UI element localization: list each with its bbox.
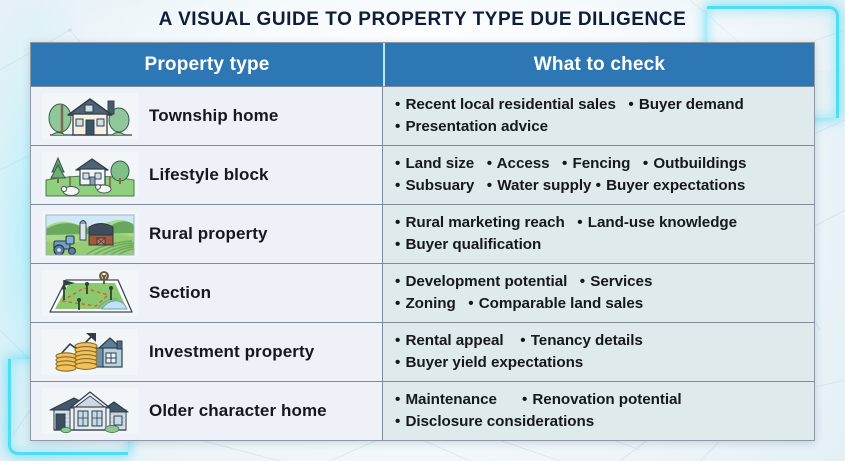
table-row: Township home • Recent local residential… [31, 86, 814, 145]
table-row: Investment property • Rental appeal • Te… [31, 322, 814, 381]
property-type-label: Investment property [143, 342, 314, 362]
property-due-diligence-table: Property type What to check [30, 42, 815, 441]
check-item: Buyer expectations [606, 177, 745, 194]
property-type-label: Lifestyle block [143, 165, 269, 185]
check-line: • Rental appeal • Tenancy details [395, 330, 804, 352]
check-item: Services [590, 273, 652, 290]
what-to-check-cell: • Rural marketing reach • Land-use knowl… [383, 205, 814, 263]
check-item: Comparable land sales [479, 295, 643, 312]
property-type-cell: Rural property [31, 205, 383, 263]
check-item: Buyer yield expectations [405, 354, 583, 371]
check-line: • Recent local residential sales • Buyer… [395, 94, 804, 116]
check-line: • Buyer yield expectations [395, 352, 804, 374]
investment-property-icon [37, 326, 143, 378]
property-type-cell: Section [31, 264, 383, 322]
property-type-label: Section [143, 283, 211, 303]
property-type-cell: Township home [31, 87, 383, 145]
property-type-label: Older character home [143, 401, 327, 421]
what-to-check-cell: • Rental appeal • Tenancy details • Buye… [383, 323, 814, 381]
table-row: Section • Development potential • Servic… [31, 263, 814, 322]
check-line: • Presentation advice [395, 116, 804, 138]
check-line: • Development potential • Services [395, 271, 804, 293]
table-row: Lifestyle block • Land size • Access • F… [31, 145, 814, 204]
property-type-label: Rural property [143, 224, 268, 244]
check-line: • Rural marketing reach • Land-use knowl… [395, 212, 804, 234]
what-to-check-cell: • Development potential • Services • Zon… [383, 264, 814, 322]
page-title: A VISUAL GUIDE TO PROPERTY TYPE DUE DILI… [0, 9, 845, 31]
property-type-label: Township home [143, 106, 278, 126]
check-item: Buyer qualification [405, 236, 541, 253]
property-type-cell: Lifestyle block [31, 146, 383, 204]
check-item: Outbuildings [653, 155, 746, 172]
table-header-row: Property type What to check [31, 43, 814, 86]
check-item: Land size [405, 155, 474, 172]
check-item: Zoning [405, 295, 455, 312]
check-line: • Zoning • Comparable land sales [395, 293, 804, 315]
table-row: Older character home • Maintenance • Ren… [31, 381, 814, 440]
what-to-check-cell: • Recent local residential sales • Buyer… [383, 87, 814, 145]
section-icon [37, 267, 143, 319]
check-line: • Subsuary • Water supply • Buyer expect… [395, 175, 804, 197]
check-line: • Maintenance • Renovation potential [395, 389, 804, 411]
check-item: Buyer demand [639, 96, 744, 113]
check-item: Water supply [497, 177, 591, 194]
property-type-cell: Older character home [31, 382, 383, 440]
check-item: Disclosure considerations [405, 413, 594, 430]
property-type-cell: Investment property [31, 323, 383, 381]
older-character-home-icon [37, 385, 143, 437]
check-line: • Disclosure considerations [395, 411, 804, 433]
column-header-property-type: Property type [31, 43, 383, 86]
check-item: Renovation potential [532, 391, 681, 408]
check-item: Rental appeal [405, 332, 503, 349]
table-row: Rural property • Rural marketing reach •… [31, 204, 814, 263]
check-item: Recent local residential sales [405, 96, 615, 113]
check-item: Development potential [405, 273, 567, 290]
check-item: Maintenance [405, 391, 496, 408]
what-to-check-cell: • Maintenance • Renovation potential • D… [383, 382, 814, 440]
check-item: Tenancy details [531, 332, 643, 349]
check-item: Rural marketing reach [405, 214, 564, 231]
check-line: • Buyer qualification [395, 234, 804, 256]
column-header-what-to-check: What to check [385, 43, 814, 86]
township-home-icon [37, 90, 143, 142]
check-line: • Land size • Access • Fencing • Outbuil… [395, 153, 804, 175]
rural-property-icon [37, 208, 143, 260]
lifestyle-block-icon [37, 149, 143, 201]
check-item: Land-use knowledge [588, 214, 737, 231]
what-to-check-cell: • Land size • Access • Fencing • Outbuil… [383, 146, 814, 204]
check-item: Access [497, 155, 550, 172]
check-item: Fencing [573, 155, 631, 172]
check-item: Presentation advice [405, 118, 548, 135]
check-item: Subsuary [405, 177, 474, 194]
